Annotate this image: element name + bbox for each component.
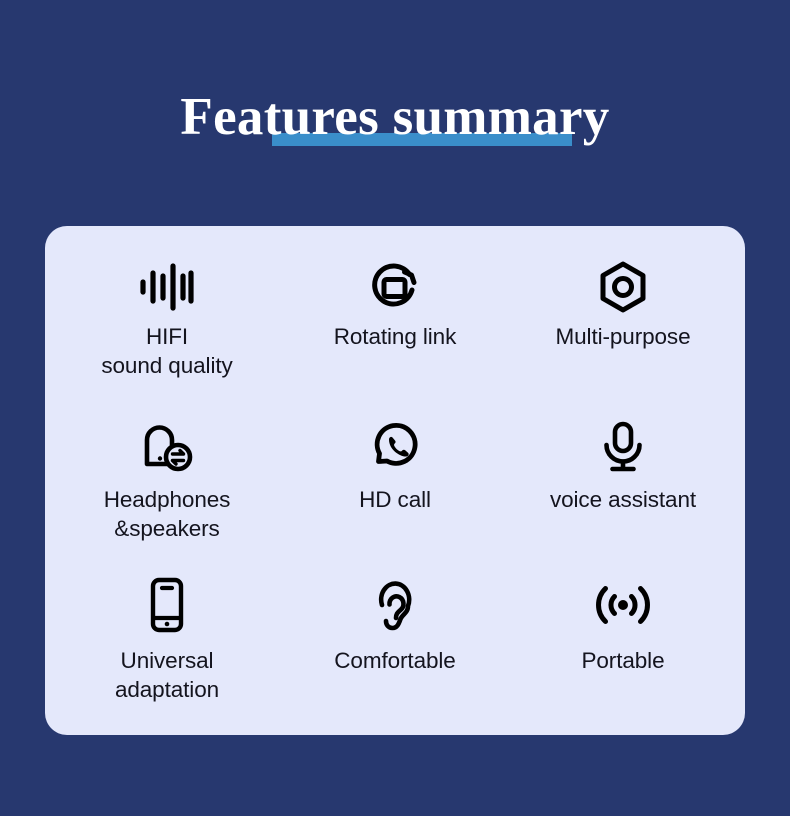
feature-item-comfortable[interactable]: Comfortable xyxy=(281,562,509,721)
feature-item-rotating-link[interactable]: Rotating link xyxy=(281,244,509,403)
feature-label: Multi-purpose xyxy=(555,322,690,351)
feature-label: Rotating link xyxy=(334,322,457,351)
microphone-icon xyxy=(592,415,654,477)
feature-label: Portable xyxy=(581,646,664,675)
feature-item-hifi-sound-quality[interactable]: HIFI sound quality xyxy=(53,244,281,403)
feature-item-hd-call[interactable]: HD call xyxy=(281,403,509,562)
phone-bubble-icon xyxy=(364,415,426,477)
page-header: Features summary xyxy=(0,84,790,154)
smartphone-icon xyxy=(136,574,198,636)
feature-label: Headphones &speakers xyxy=(104,485,231,543)
feature-label: Comfortable xyxy=(334,646,455,675)
ear-icon xyxy=(364,574,426,636)
feature-item-multi-purpose[interactable]: Multi-purpose xyxy=(509,244,737,403)
feature-item-portable[interactable]: Portable xyxy=(509,562,737,721)
features-card: HIFI sound quality Rotating link Multi-p… xyxy=(45,226,745,735)
feature-item-headphones-speakers[interactable]: Headphones &speakers xyxy=(53,403,281,562)
feature-item-voice-assistant[interactable]: voice assistant xyxy=(509,403,737,562)
feature-label: Universal adaptation xyxy=(115,646,219,704)
page-title: Features summary xyxy=(180,84,609,150)
title-group: Features summary xyxy=(180,84,609,150)
feature-label: HIFI sound quality xyxy=(101,322,232,380)
audio-waveform-icon xyxy=(136,256,198,318)
feature-label: voice assistant xyxy=(550,485,696,514)
hex-nut-icon xyxy=(592,256,654,318)
feature-item-universal-adaptation[interactable]: Universal adaptation xyxy=(53,562,281,721)
rotate-refresh-icon xyxy=(364,256,426,318)
wireless-signal-icon xyxy=(592,574,654,636)
feature-label: HD call xyxy=(359,485,431,514)
speaker-swap-icon xyxy=(136,415,198,477)
